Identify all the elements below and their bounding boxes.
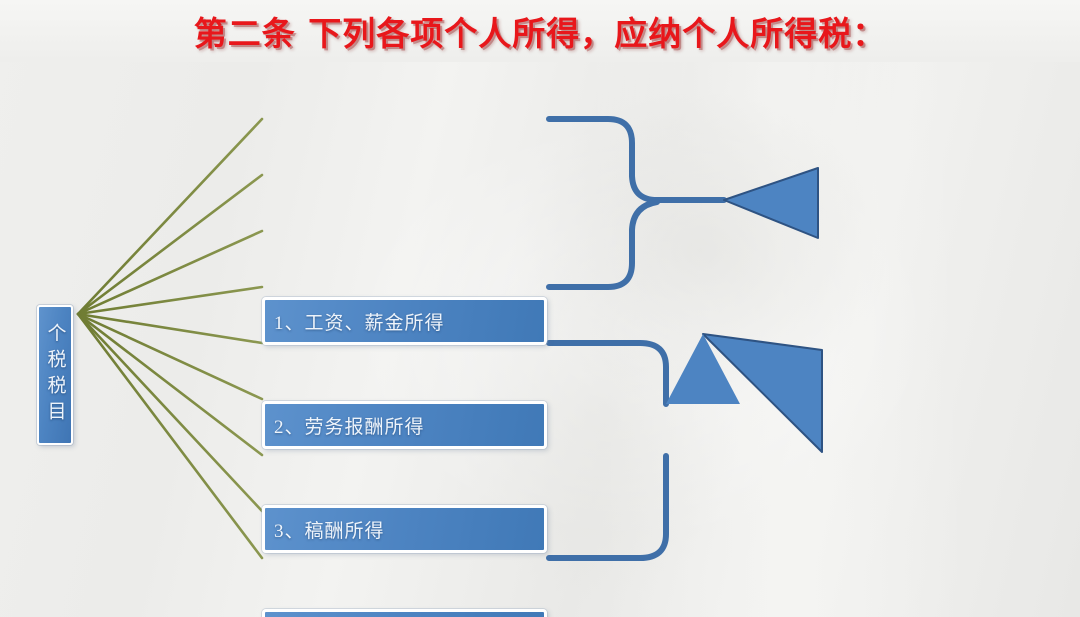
category-label-text: 个税税目 <box>46 323 65 427</box>
item-box-1[interactable]: 1、工资、薪金所得 <box>262 297 547 345</box>
title-bar: 第二条 下列各项个人所得，应纳个人所得税： <box>0 0 1080 62</box>
brace-classified <box>549 343 666 558</box>
callout-tail-nonresident-join <box>666 334 740 404</box>
item-label-2: 2、劳务报酬所得 <box>274 412 425 439</box>
category-label-box[interactable]: 个税税目 <box>37 305 73 445</box>
callout-tail-nonresident <box>703 334 822 452</box>
item-box-2[interactable]: 2、劳务报酬所得 <box>262 401 547 449</box>
item-label-1: 1、工资、薪金所得 <box>274 308 445 335</box>
item-box-4[interactable]: 4、特许权使用费所得 <box>262 609 547 617</box>
callout-tail-resident <box>724 168 818 238</box>
page-title: 第二条 下列各项个人所得，应纳个人所得税： <box>194 7 887 55</box>
item-label-3: 3、稿酬所得 <box>274 516 385 543</box>
fan-connectors <box>78 119 262 558</box>
item-box-3[interactable]: 3、稿酬所得 <box>262 505 547 553</box>
brace-comprehensive <box>549 119 724 287</box>
slide-canvas: 第二条 下列各项个人所得，应纳个人所得税： <box>0 0 1080 617</box>
